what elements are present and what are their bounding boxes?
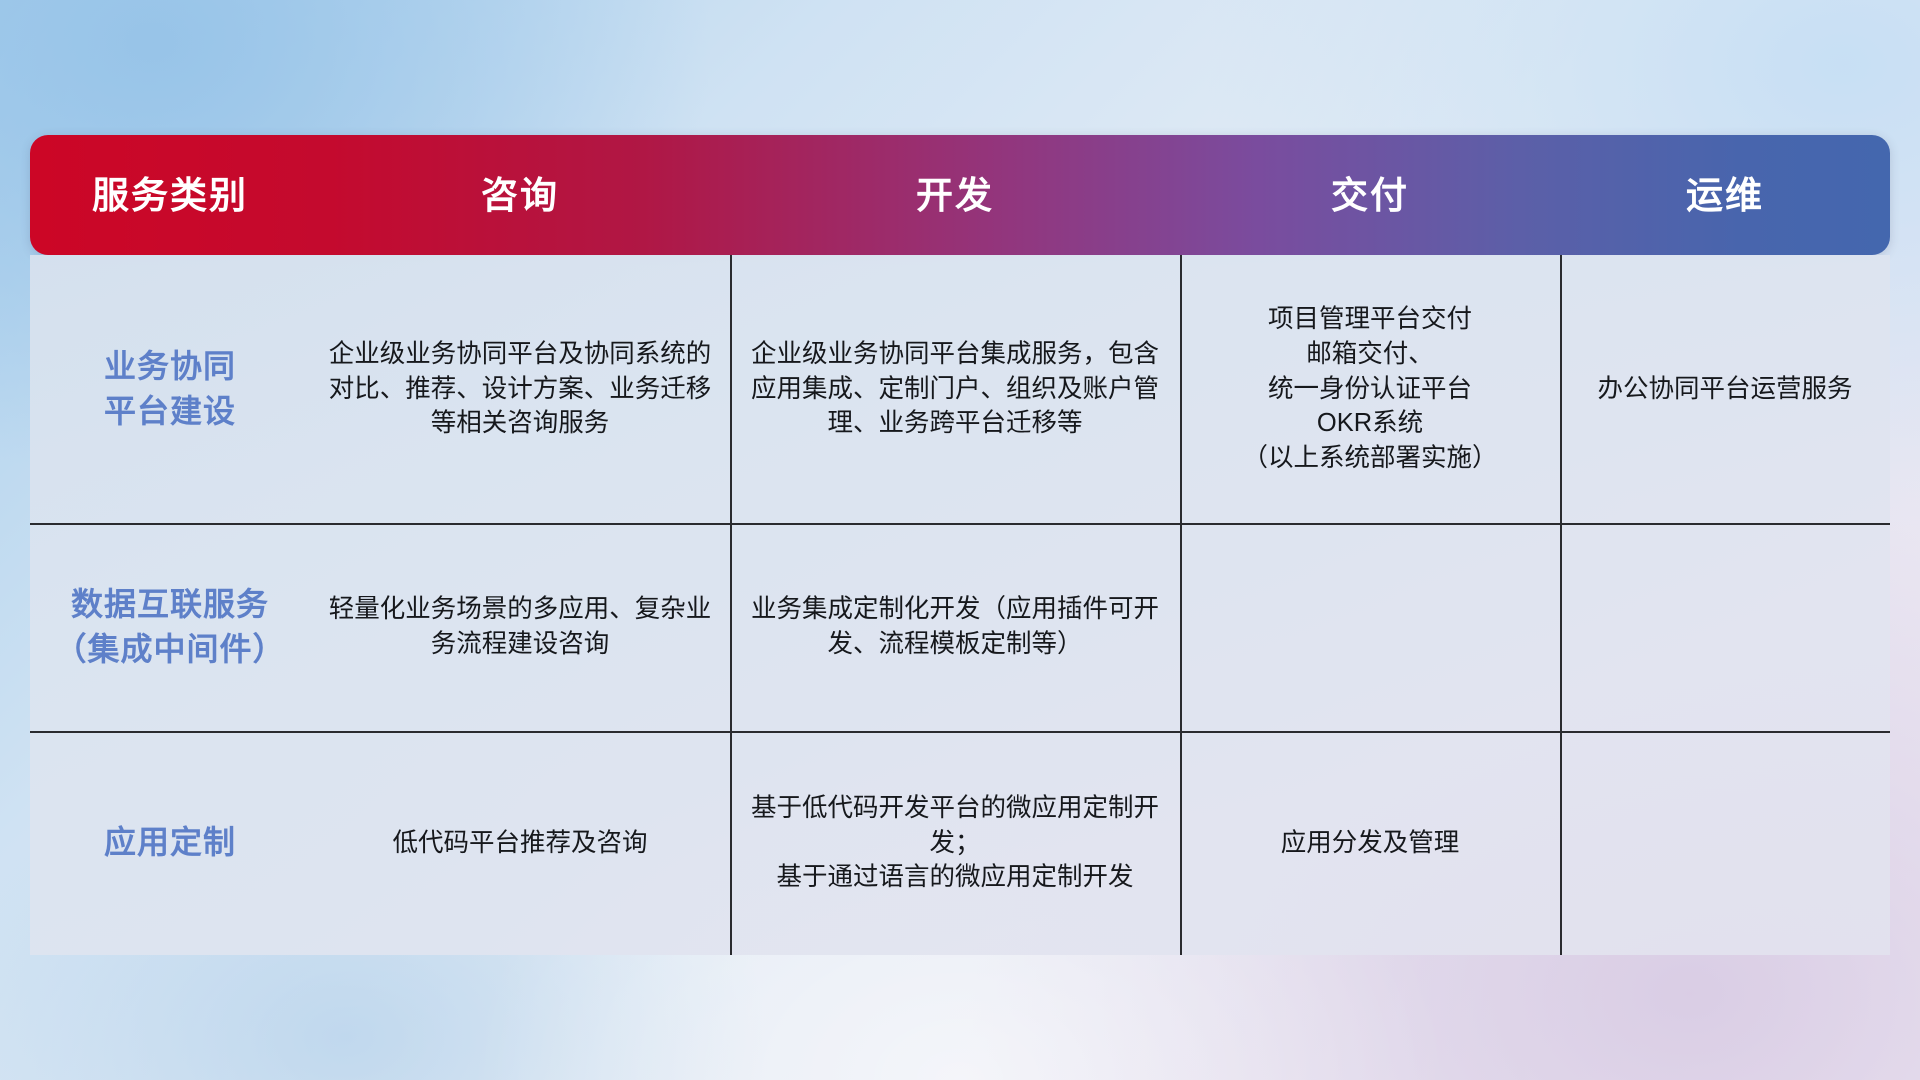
- cell-delivery-line: （以上系统部署实施）: [1242, 441, 1497, 476]
- cell-development-line: 基于通过语言的微应用定制开发: [744, 860, 1166, 895]
- row-label-line: 平台建设: [104, 389, 236, 434]
- column-header-development: 开发: [730, 177, 1180, 214]
- column-divider: [1560, 255, 1562, 955]
- cell-development: 基于低代码开发平台的微应用定制开发； 基于通过语言的微应用定制开发: [730, 731, 1180, 955]
- cell-delivery-line: 邮箱交付、: [1242, 337, 1497, 372]
- column-divider: [1180, 255, 1182, 955]
- cell-development-line: 基于低代码开发平台的微应用定制开发；: [744, 791, 1166, 860]
- row-label-data-interconnect: 数据互联服务 （集成中间件）: [30, 523, 310, 731]
- table-body: 业务协同 平台建设 企业级业务协同平台及协同系统的对比、推荐、设计方案、业务迁移…: [30, 255, 1890, 955]
- row-label-line: 应用定制: [104, 820, 236, 865]
- cell-delivery: 项目管理平台交付 邮箱交付、 统一身份认证平台 OKR系统 （以上系统部署实施）: [1180, 255, 1560, 523]
- row-label-app-customization: 应用定制: [30, 731, 310, 955]
- cell-development: 业务集成定制化开发（应用插件可开发、流程模板定制等）: [730, 523, 1180, 731]
- cell-consulting: 轻量化业务场景的多应用、复杂业务流程建设咨询: [310, 523, 730, 731]
- cell-consulting: 低代码平台推荐及咨询: [310, 731, 730, 955]
- cell-development: 企业级业务协同平台集成服务，包含应用集成、定制门户、组织及账户管理、业务跨平台迁…: [730, 255, 1180, 523]
- cell-consulting: 企业级业务协同平台及协同系统的对比、推荐、设计方案、业务迁移等相关咨询服务: [310, 255, 730, 523]
- column-header-operations: 运维: [1560, 177, 1890, 214]
- row-label-line: 数据互联服务: [54, 582, 285, 627]
- column-divider: [730, 255, 732, 955]
- table-header-row: 服务类别 咨询 开发 交付 运维: [30, 135, 1890, 255]
- column-header-consulting: 咨询: [310, 177, 730, 214]
- table-row: 应用定制 低代码平台推荐及咨询 基于低代码开发平台的微应用定制开发； 基于通过语…: [30, 731, 1890, 955]
- cell-delivery: [1180, 523, 1560, 731]
- table-row: 业务协同 平台建设 企业级业务协同平台及协同系统的对比、推荐、设计方案、业务迁移…: [30, 255, 1890, 523]
- cell-operations: [1560, 523, 1890, 731]
- row-label-line: 业务协同: [104, 344, 236, 389]
- row-divider: [30, 523, 1890, 525]
- cell-delivery-line: 统一身份认证平台: [1242, 372, 1497, 407]
- cell-delivery-line: OKR系统: [1242, 406, 1497, 441]
- table-row: 数据互联服务 （集成中间件） 轻量化业务场景的多应用、复杂业务流程建设咨询 业务…: [30, 523, 1890, 731]
- cell-operations: 办公协同平台运营服务: [1560, 255, 1890, 523]
- cell-operations: [1560, 731, 1890, 955]
- column-header-service-category: 服务类别: [30, 177, 310, 214]
- column-header-delivery: 交付: [1180, 177, 1560, 214]
- service-matrix-table: 服务类别 咨询 开发 交付 运维 业务协同 平台建设 企业级业务协同平台及协同系…: [30, 135, 1890, 955]
- cell-delivery: 应用分发及管理: [1180, 731, 1560, 955]
- row-divider: [30, 731, 1890, 733]
- row-label-line: （集成中间件）: [54, 627, 285, 672]
- row-label-business-collaboration: 业务协同 平台建设: [30, 255, 310, 523]
- cell-delivery-line: 项目管理平台交付: [1242, 302, 1497, 337]
